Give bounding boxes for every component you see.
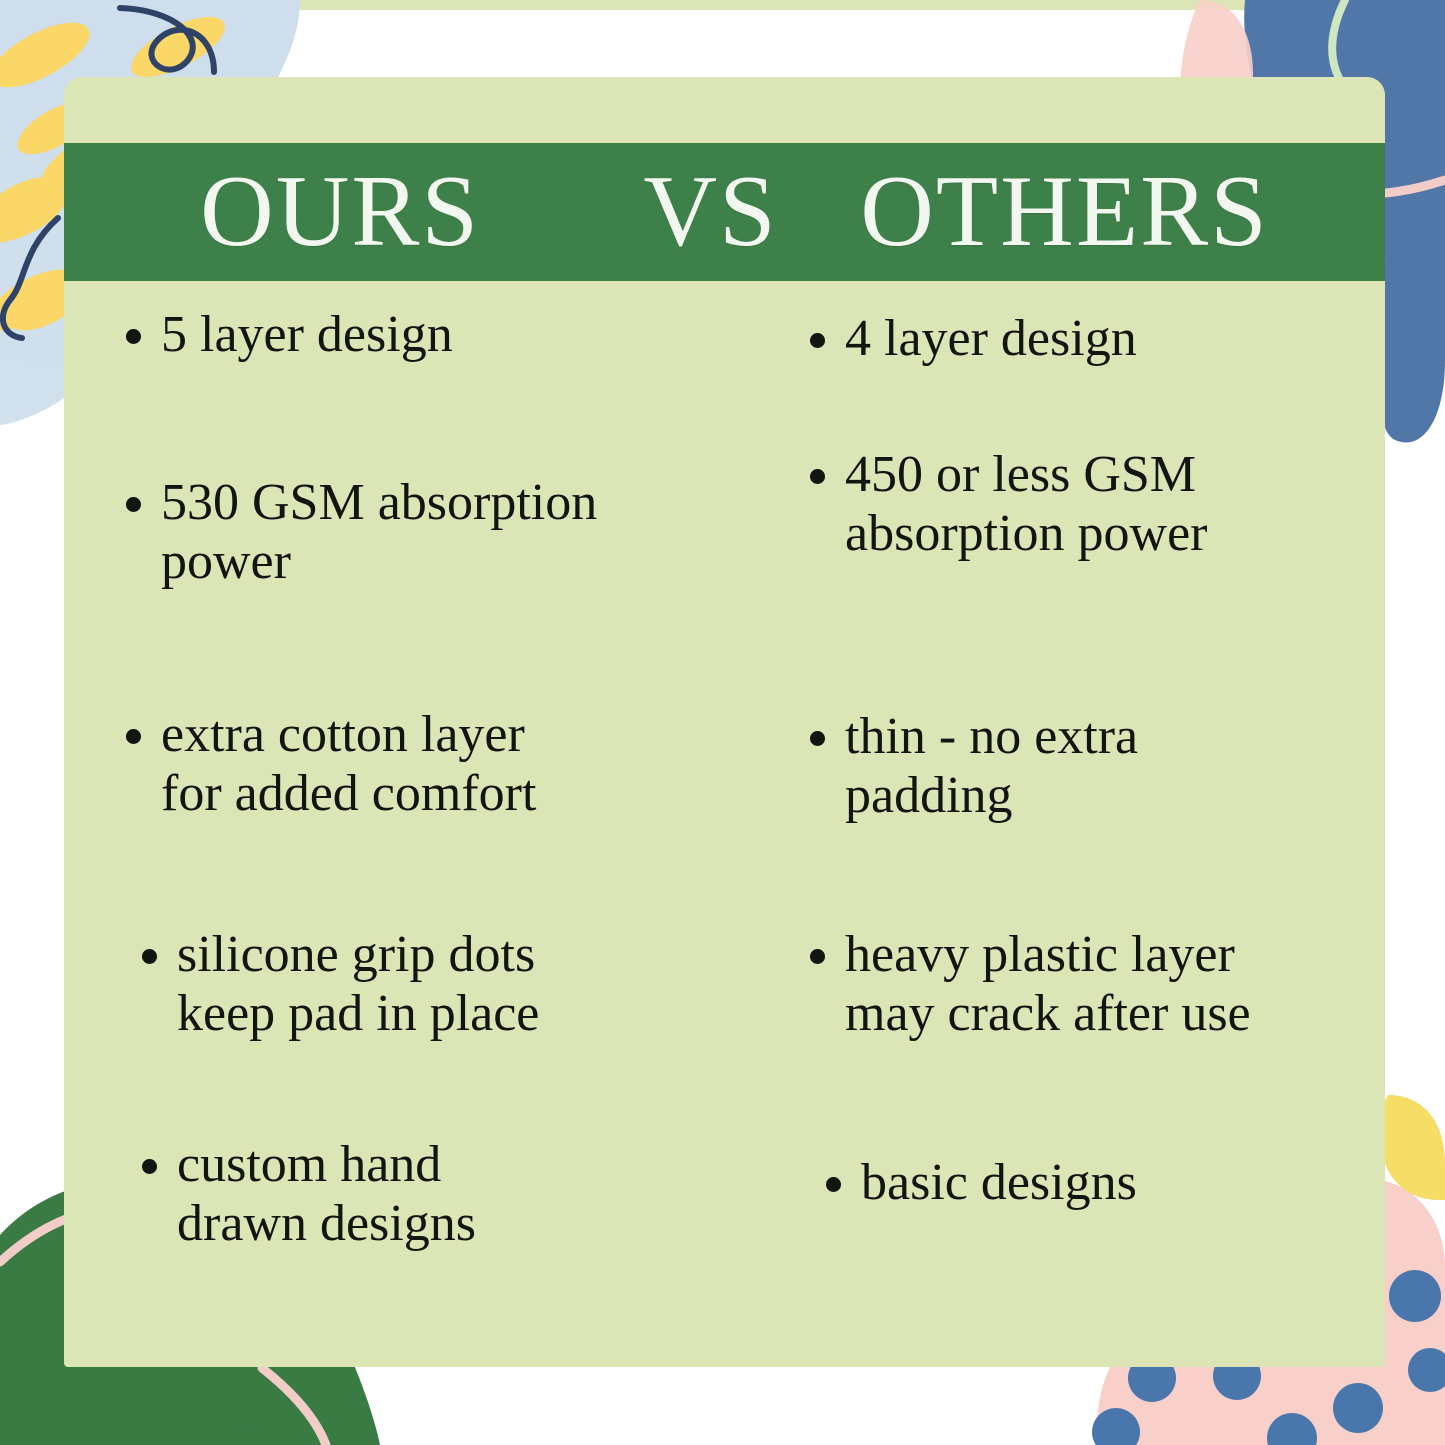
bullet-dot-icon [126,329,141,344]
bullet-dot-icon [826,1177,841,1192]
header-banner: OURS VS OTHERS [64,143,1385,281]
list-item: silicone grip dots keep pad in place [142,925,539,1044]
list-item-label: silicone grip dots keep pad in place [177,925,539,1044]
bullet-dot-icon [810,949,825,964]
list-item: 4 layer design [810,309,1137,368]
comparison-card: OURS VS OTHERS 5 layer design 530 GSM ab… [64,77,1385,1367]
bullet-dot-icon [126,729,141,744]
list-item: custom hand drawn designs [142,1135,476,1254]
list-item-label: thin - no extra padding [845,707,1138,826]
page-title: OURS VS OTHERS [64,161,1385,263]
column-ours: 5 layer design 530 GSM absorption power … [64,305,790,1365]
bullet-dot-icon [126,497,141,512]
bullet-dot-icon [810,333,825,348]
list-item-label: 4 layer design [845,309,1137,368]
list-item-label: heavy plastic layer may crack after use [845,925,1251,1044]
column-others: 4 layer design 450 or less GSM absorptio… [790,305,1385,1365]
list-item-label: extra cotton layer for added comfort [161,705,536,824]
bullet-dot-icon [142,1159,157,1174]
list-item-label: custom hand drawn designs [177,1135,476,1254]
list-item-label: basic designs [861,1153,1137,1212]
bullet-dot-icon [142,949,157,964]
list-item-label: 450 or less GSM absorption power [845,445,1207,564]
bullet-dot-icon [810,731,825,746]
list-item: extra cotton layer for added comfort [126,705,536,824]
list-item-label: 5 layer design [161,305,453,364]
infographic-canvas: OURS VS OTHERS 5 layer design 530 GSM ab… [0,0,1445,1445]
list-item: thin - no extra padding [810,707,1138,826]
list-item-label: 530 GSM absorption power [161,473,597,592]
list-item: basic designs [826,1153,1137,1212]
list-item: 530 GSM absorption power [126,473,597,592]
list-item: heavy plastic layer may crack after use [810,925,1251,1044]
list-item: 450 or less GSM absorption power [810,445,1207,564]
bullet-dot-icon [810,469,825,484]
list-item: 5 layer design [126,305,453,364]
comparison-columns: 5 layer design 530 GSM absorption power … [64,305,1385,1365]
